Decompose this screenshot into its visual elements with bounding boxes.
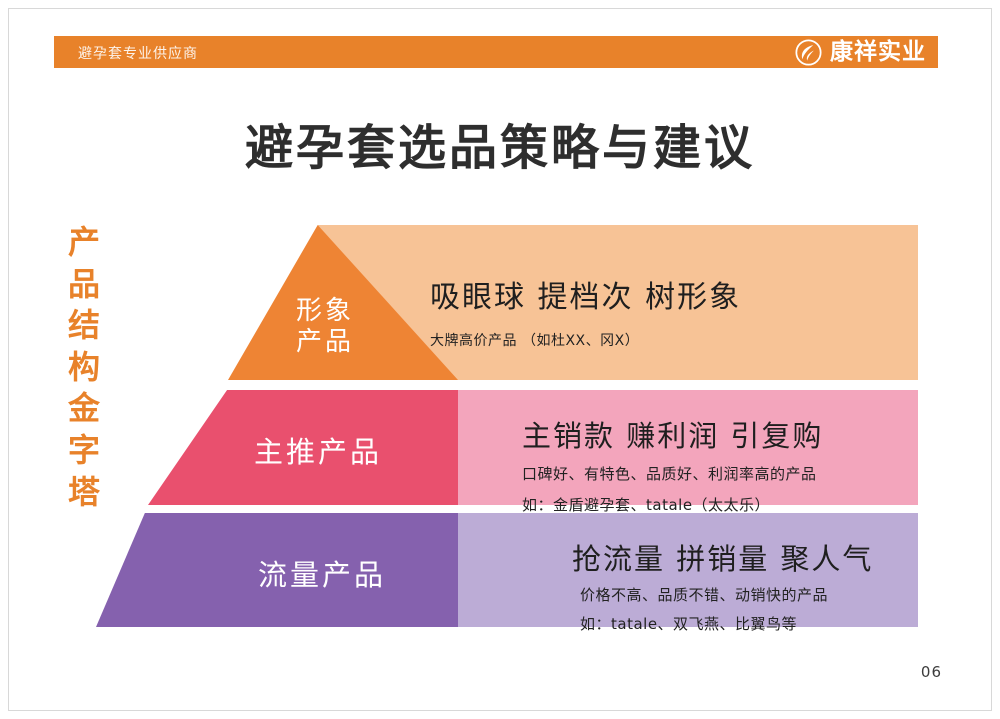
tier-label-line: 产品 — [270, 327, 380, 358]
tier-text-image-products: 吸眼球 提档次 树形象 大牌高价产品 （如杜XX、冈X） — [430, 272, 741, 350]
tier-headline: 吸眼球 提档次 树形象 — [430, 272, 741, 316]
tier-label-line: 形象 — [270, 296, 380, 327]
tier-headline: 抢流量 拼销量 聚人气 — [572, 536, 873, 578]
page-number: 06 — [921, 663, 942, 681]
slide-canvas: 避孕套专业供应商 康祥实业 避孕套选品策略与建议 产 品 结 构 金 字 塔 形… — [0, 0, 1000, 719]
tier-label-image-products: 形象 产品 — [270, 296, 380, 357]
tier-detail-line: 价格不高、品质不错、动销快的产品 — [572, 584, 873, 607]
tier-headline: 主销款 赚利润 引复购 — [522, 413, 823, 455]
tier-text-main-push-products: 主销款 赚利润 引复购 口碑好、有特色、品质好、利润率高的产品 如：金盾避孕套、… — [522, 413, 823, 518]
product-structure-pyramid: 形象 产品 吸眼球 提档次 树形象 大牌高价产品 （如杜XX、冈X） 主推产品 … — [0, 0, 1000, 719]
tier-detail-line: 口碑好、有特色、品质好、利润率高的产品 — [522, 463, 823, 486]
tier-label-main-push-products: 主推产品 — [228, 429, 408, 471]
tier-text-traffic-products: 抢流量 拼销量 聚人气 价格不高、品质不错、动销快的产品 如：tatale、双飞… — [572, 536, 873, 637]
tier-detail-line: 如：tatale、双飞燕、比翼鸟等 — [572, 613, 873, 636]
tier-detail-line: 大牌高价产品 （如杜XX、冈X） — [430, 330, 741, 350]
tier-label-traffic-products: 流量产品 — [232, 552, 412, 594]
